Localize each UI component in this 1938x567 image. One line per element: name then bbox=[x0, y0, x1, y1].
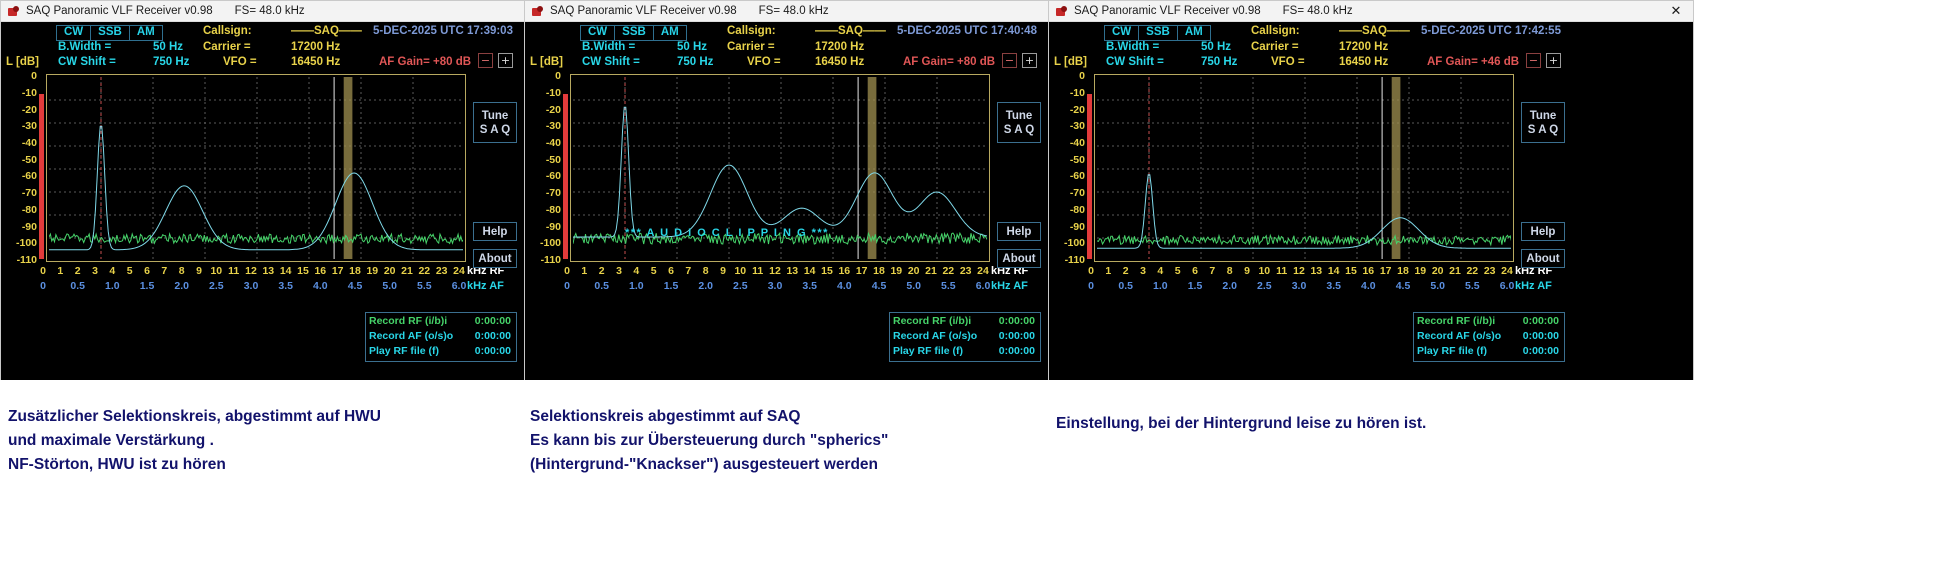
panel-caption-3: Einstellung, bei der Hintergrund leise z… bbox=[1056, 412, 1426, 436]
x-axis-rf-tick: 18 bbox=[349, 265, 361, 277]
y-axis-tick: -60 bbox=[1070, 170, 1085, 182]
x-axis-af-tick: 1.5 bbox=[664, 280, 679, 292]
x-axis-rf-tick: 4 bbox=[633, 265, 639, 277]
vfo-value[interactable]: 16450 Hz bbox=[291, 56, 340, 68]
x-axis-af-tick: 4.0 bbox=[837, 280, 852, 292]
x-axis-rf-tick: 14 bbox=[1328, 265, 1340, 277]
record-rf-row[interactable]: Record RF (i/b)i 0:00:00 bbox=[893, 315, 1037, 330]
x-axis-rf-tick: 23 bbox=[1484, 265, 1496, 277]
record-af-time: 0:00:00 bbox=[1523, 330, 1559, 342]
x-axis-rf: 0123456789101112131415161718192021222324 bbox=[565, 265, 995, 280]
x-axis-af-tick: 6.0 bbox=[452, 280, 467, 292]
cw-shift-value[interactable]: 750 Hz bbox=[677, 56, 713, 68]
x-axis-rf-tick: 2 bbox=[1123, 265, 1129, 277]
y-axis: 0-10-20-30-40-50-60-70-80-90-100-110 bbox=[525, 74, 561, 264]
x-axis-af-unit: kHz AF bbox=[991, 280, 1028, 292]
x-axis-af-tick: 3.5 bbox=[278, 280, 293, 292]
caption-line: Es kann bis zur Übersteuerung durch "sph… bbox=[530, 429, 888, 453]
x-axis-af-tick: 6.0 bbox=[1500, 280, 1515, 292]
x-axis-af-tick: 2.5 bbox=[733, 280, 748, 292]
app-icon bbox=[1055, 5, 1068, 18]
af-gain-decrease-button[interactable]: − bbox=[1526, 53, 1541, 68]
af-gain-increase-button[interactable]: + bbox=[1022, 53, 1037, 68]
x-axis-rf-tick: 6 bbox=[1192, 265, 1198, 277]
record-af-row[interactable]: Record AF (o/s)o 0:00:00 bbox=[369, 330, 513, 345]
caption-line: (Hintergrund-"Knackser") ausgesteuert we… bbox=[530, 453, 888, 477]
x-axis-rf-tick: 15 bbox=[1345, 265, 1357, 277]
mode-button-am[interactable]: AM bbox=[654, 25, 687, 41]
x-axis-rf-tick: 20 bbox=[384, 265, 396, 277]
x-axis-af-unit: kHz AF bbox=[1515, 280, 1552, 292]
x-axis-rf-tick: 2 bbox=[75, 265, 81, 277]
mode-button-ssb[interactable]: SSB bbox=[1139, 25, 1178, 41]
x-axis-rf-tick: 0 bbox=[1088, 265, 1094, 277]
play-rf-time: 0:00:00 bbox=[1523, 345, 1559, 357]
x-axis-rf-tick: 0 bbox=[564, 265, 570, 277]
x-axis-rf-tick: 17 bbox=[332, 265, 344, 277]
y-axis-tick: -90 bbox=[546, 221, 561, 233]
x-axis-af-tick: 2.0 bbox=[698, 280, 713, 292]
x-axis-rf-tick: 0 bbox=[40, 265, 46, 277]
vfo-row: VFO = 16450 Hz bbox=[1271, 56, 1305, 68]
y-axis-tick: -110 bbox=[541, 254, 561, 266]
bandwidth-value[interactable]: 50 Hz bbox=[1201, 41, 1231, 53]
y-axis-tick: -100 bbox=[540, 237, 561, 249]
x-axis-af: 00.51.01.52.02.53.03.54.04.55.05.56.0 bbox=[1089, 280, 1519, 295]
x-axis-af-tick: 0.5 bbox=[1118, 280, 1133, 292]
x-axis-af-tick: 3.5 bbox=[802, 280, 817, 292]
record-rf-row[interactable]: Record RF (i/b)i 0:00:00 bbox=[369, 315, 513, 330]
bandwidth-row: B.Width = 50 Hz bbox=[1106, 41, 1159, 53]
cw-shift-row: CW Shift = 750 Hz bbox=[582, 56, 640, 68]
record-af-row[interactable]: Record AF (o/s)o 0:00:00 bbox=[1417, 330, 1561, 345]
x-axis-rf-tick: 10 bbox=[734, 265, 746, 277]
help-button[interactable]: Help bbox=[1521, 222, 1565, 241]
x-axis-af-tick: 5.0 bbox=[906, 280, 921, 292]
play-rf-label: Play RF file (f) bbox=[369, 345, 439, 357]
cw-shift-value[interactable]: 750 Hz bbox=[1201, 56, 1237, 68]
x-axis-af-tick: 2.0 bbox=[174, 280, 189, 292]
signal-level-meter bbox=[1087, 94, 1092, 259]
x-axis-rf-tick: 3 bbox=[616, 265, 622, 277]
x-axis-af-tick: 3.0 bbox=[1292, 280, 1307, 292]
y-axis-tick: -110 bbox=[1065, 254, 1085, 266]
x-axis-rf: 0123456789101112131415161718192021222324 bbox=[1089, 265, 1519, 280]
x-axis-rf-tick: 7 bbox=[161, 265, 167, 277]
af-gain-increase-button[interactable]: + bbox=[1546, 53, 1561, 68]
af-gain-decrease-button[interactable]: − bbox=[1002, 53, 1017, 68]
mode-button-am[interactable]: AM bbox=[1178, 25, 1211, 41]
x-axis-rf-tick: 18 bbox=[873, 265, 885, 277]
app-body: CWSSBAM B.Width = 50 Hz CW Shift = 750 H… bbox=[1049, 22, 1693, 380]
mode-selector[interactable]: CWSSBAM bbox=[1104, 25, 1211, 41]
y-axis-tick: 0 bbox=[1079, 70, 1085, 82]
x-axis-rf-tick: 10 bbox=[1258, 265, 1270, 277]
x-axis-af-tick: 1.0 bbox=[105, 280, 120, 292]
record-rf-time: 0:00:00 bbox=[999, 315, 1035, 327]
play-rf-row[interactable]: Play RF file (f) 0:00:00 bbox=[369, 345, 513, 360]
y-axis: 0-10-20-30-40-50-60-70-80-90-100-110 bbox=[1049, 74, 1085, 264]
x-axis-af-tick: 2.5 bbox=[209, 280, 224, 292]
x-axis-af-tick: 5.5 bbox=[1465, 280, 1480, 292]
y-axis-tick: -30 bbox=[546, 120, 561, 132]
x-axis-af-tick: 2.5 bbox=[1257, 280, 1272, 292]
record-rf-time: 0:00:00 bbox=[475, 315, 511, 327]
x-axis-rf-tick: 1 bbox=[1105, 265, 1111, 277]
carrier-row: Carrier = 17200 Hz bbox=[727, 41, 775, 53]
x-axis-af-tick: 2.0 bbox=[1222, 280, 1237, 292]
panel-caption-2: Selektionskreis abgestimmt auf SAQEs kan… bbox=[530, 405, 888, 477]
x-axis-rf-tick: 14 bbox=[804, 265, 816, 277]
y-axis-tick: -20 bbox=[546, 104, 561, 116]
record-af-label: Record AF (o/s)o bbox=[1417, 330, 1501, 342]
x-axis-rf-tick: 1 bbox=[57, 265, 63, 277]
y-axis-tick: -30 bbox=[22, 120, 37, 132]
spectrum-plot[interactable] bbox=[1094, 74, 1514, 262]
signal-level-meter bbox=[39, 94, 44, 259]
x-axis-rf-tick: 12 bbox=[769, 265, 781, 277]
title-bar: SAQ Panoramic VLF Receiver v0.98 FS= 48.… bbox=[1049, 1, 1693, 22]
callsign-row: Callsign: ——SAQ—— bbox=[203, 25, 252, 37]
x-axis-rf-tick: 16 bbox=[838, 265, 850, 277]
x-axis-af-tick: 4.0 bbox=[313, 280, 328, 292]
spectrum-canvas: *** A U D I O C L I P P I N G *** bbox=[573, 77, 987, 259]
y-axis-tick: -50 bbox=[22, 154, 37, 166]
y-axis-tick: -20 bbox=[1070, 104, 1085, 116]
spectrum-canvas bbox=[1097, 77, 1511, 259]
sample-rate-label: FS= 48.0 kHz bbox=[759, 5, 829, 17]
x-axis-af-tick: 1.5 bbox=[140, 280, 155, 292]
x-axis-rf-tick: 24 bbox=[453, 265, 465, 277]
vfo-value[interactable]: 16450 Hz bbox=[1339, 56, 1388, 68]
y-axis-tick: -80 bbox=[546, 204, 561, 216]
bandwidth-value[interactable]: 50 Hz bbox=[677, 41, 707, 53]
x-axis-af-unit: kHz AF bbox=[467, 280, 504, 292]
carrier-value[interactable]: 17200 Hz bbox=[815, 41, 864, 53]
tune-saq-line1: Tune bbox=[1530, 109, 1557, 123]
x-axis-rf-tick: 22 bbox=[942, 265, 954, 277]
audio-clipping-warning: *** A U D I O C L I P P I N G *** bbox=[625, 227, 829, 239]
y-axis-tick: -60 bbox=[22, 170, 37, 182]
x-axis-rf-tick: 24 bbox=[1501, 265, 1513, 277]
carrier-value[interactable]: 17200 Hz bbox=[291, 41, 340, 53]
cw-shift-row: CW Shift = 750 Hz bbox=[1106, 56, 1164, 68]
y-axis-tick: -10 bbox=[1070, 87, 1085, 99]
y-axis-tick: -90 bbox=[22, 221, 37, 233]
x-axis-rf-tick: 8 bbox=[1227, 265, 1233, 277]
y-axis-tick: -80 bbox=[22, 204, 37, 216]
x-axis-rf-tick: 2 bbox=[599, 265, 605, 277]
tune-saq-line1: Tune bbox=[1006, 109, 1033, 123]
x-axis-rf-tick: 17 bbox=[1380, 265, 1392, 277]
window-title: SAQ Panoramic VLF Receiver v0.98 bbox=[550, 5, 737, 17]
x-axis-rf-tick: 24 bbox=[977, 265, 989, 277]
y-axis-tick: -100 bbox=[1064, 237, 1085, 249]
vfo-row: VFO = 16450 Hz bbox=[223, 56, 257, 68]
level-axis-label: L [dB] bbox=[6, 56, 39, 68]
x-axis-rf-tick: 5 bbox=[651, 265, 657, 277]
receiver-window-3: SAQ Panoramic VLF Receiver v0.98 FS= 48.… bbox=[1048, 0, 1694, 380]
x-axis-rf-tick: 18 bbox=[1397, 265, 1409, 277]
about-button[interactable]: About bbox=[473, 249, 517, 268]
play-rf-row[interactable]: Play RF file (f) 0:00:00 bbox=[1417, 345, 1561, 360]
caption-line: Zusätzlicher Selektionskreis, abgestimmt… bbox=[8, 405, 381, 429]
x-axis-af-tick: 3.0 bbox=[768, 280, 783, 292]
x-axis-rf-tick: 19 bbox=[1414, 265, 1426, 277]
tune-saq-line1: Tune bbox=[482, 109, 509, 123]
af-gain-display: AF Gain= +46 dB bbox=[1427, 56, 1519, 68]
x-axis-rf-tick: 19 bbox=[366, 265, 378, 277]
x-axis-af-tick: 4.5 bbox=[1396, 280, 1411, 292]
y-axis-tick: -60 bbox=[546, 170, 561, 182]
tune-saq-button[interactable]: Tune S A Q bbox=[997, 102, 1041, 143]
bandwidth-value[interactable]: 50 Hz bbox=[153, 41, 183, 53]
x-axis-af-tick: 1.0 bbox=[1153, 280, 1168, 292]
tune-saq-line2: S A Q bbox=[1528, 123, 1558, 137]
x-axis-rf-tick: 3 bbox=[1140, 265, 1146, 277]
spectrum-plot[interactable]: *** A U D I O C L I P P I N G *** bbox=[570, 74, 990, 262]
y-axis-tick: -70 bbox=[1070, 187, 1085, 199]
x-axis-rf-tick: 15 bbox=[297, 265, 309, 277]
vfo-row: VFO = 16450 Hz bbox=[747, 56, 781, 68]
x-axis-rf-tick: 9 bbox=[1244, 265, 1250, 277]
x-axis-rf-tick: 12 bbox=[1293, 265, 1305, 277]
x-axis-rf-tick: 21 bbox=[925, 265, 937, 277]
x-axis-af-tick: 4.5 bbox=[872, 280, 887, 292]
x-axis-af-tick: 6.0 bbox=[976, 280, 991, 292]
x-axis-rf-tick: 1 bbox=[581, 265, 587, 277]
level-axis-label: L [dB] bbox=[1054, 56, 1087, 68]
sample-rate-label: FS= 48.0 kHz bbox=[1283, 5, 1353, 17]
af-gain-decrease-button[interactable]: − bbox=[478, 53, 493, 68]
y-axis-tick: -70 bbox=[22, 187, 37, 199]
mode-button-am[interactable]: AM bbox=[130, 25, 163, 41]
help-button[interactable]: Help bbox=[473, 222, 517, 241]
x-axis-rf-tick: 7 bbox=[685, 265, 691, 277]
y-axis-tick: -80 bbox=[1070, 204, 1085, 216]
x-axis-af-tick: 5.0 bbox=[1430, 280, 1445, 292]
x-axis-rf-tick: 13 bbox=[262, 265, 274, 277]
caption-line: und maximale Verstärkung . bbox=[8, 429, 381, 453]
x-axis-rf-tick: 8 bbox=[703, 265, 709, 277]
x-axis-rf-tick: 11 bbox=[228, 265, 239, 277]
x-axis-af-tick: 3.0 bbox=[244, 280, 259, 292]
af-gain-display: AF Gain= +80 dB bbox=[379, 56, 471, 68]
spectrum-plot[interactable] bbox=[46, 74, 466, 262]
x-axis-rf-tick: 16 bbox=[1362, 265, 1374, 277]
x-axis-rf-tick: 7 bbox=[1209, 265, 1215, 277]
record-af-time: 0:00:00 bbox=[475, 330, 511, 342]
play-rf-label: Play RF file (f) bbox=[893, 345, 963, 357]
callsign-value: ——SAQ—— bbox=[1339, 25, 1410, 37]
window-title: SAQ Panoramic VLF Receiver v0.98 bbox=[1074, 5, 1261, 17]
record-rf-label: Record RF (i/b)i bbox=[369, 315, 447, 327]
about-button[interactable]: About bbox=[997, 249, 1041, 268]
play-rf-time: 0:00:00 bbox=[475, 345, 511, 357]
y-axis-tick: -110 bbox=[17, 254, 37, 266]
mode-button-ssb[interactable]: SSB bbox=[615, 25, 654, 41]
callsign-row: Callsign: ——SAQ—— bbox=[727, 25, 776, 37]
record-panel: Record RF (i/b)i 0:00:00 Record AF (o/s)… bbox=[1413, 312, 1565, 362]
mode-button-cw[interactable]: CW bbox=[580, 25, 615, 41]
af-gain-display: AF Gain= +80 dB bbox=[903, 56, 995, 68]
x-axis-af-tick: 0.5 bbox=[70, 280, 85, 292]
x-axis-rf-tick: 17 bbox=[856, 265, 868, 277]
x-axis-rf: 0123456789101112131415161718192021222324 bbox=[41, 265, 471, 280]
y-axis-tick: -90 bbox=[1070, 221, 1085, 233]
x-axis-rf-tick: 11 bbox=[1276, 265, 1287, 277]
tune-saq-button[interactable]: Tune S A Q bbox=[473, 102, 517, 143]
panel-caption-1: Zusätzlicher Selektionskreis, abgestimmt… bbox=[8, 405, 381, 477]
y-axis-tick: -50 bbox=[1070, 154, 1085, 166]
mode-button-cw[interactable]: CW bbox=[56, 25, 91, 41]
x-axis-rf-tick: 12 bbox=[245, 265, 257, 277]
x-axis-rf-tick: 21 bbox=[1449, 265, 1461, 277]
x-axis-rf-tick: 21 bbox=[401, 265, 413, 277]
record-af-label: Record AF (o/s)o bbox=[893, 330, 977, 342]
x-axis-rf-tick: 5 bbox=[1175, 265, 1181, 277]
x-axis-af-tick: 0 bbox=[564, 280, 570, 292]
x-axis-af-tick: 4.5 bbox=[348, 280, 363, 292]
sample-rate-label: FS= 48.0 kHz bbox=[235, 5, 305, 17]
record-af-row[interactable]: Record AF (o/s)o 0:00:00 bbox=[893, 330, 1037, 345]
af-gain-increase-button[interactable]: + bbox=[498, 53, 513, 68]
x-axis-rf-tick: 23 bbox=[960, 265, 972, 277]
record-panel: Record RF (i/b)i 0:00:00 Record AF (o/s)… bbox=[889, 312, 1041, 362]
record-rf-label: Record RF (i/b)i bbox=[1417, 315, 1495, 327]
carrier-row: Carrier = 17200 Hz bbox=[203, 41, 251, 53]
y-axis: 0-10-20-30-40-50-60-70-80-90-100-110 bbox=[1, 74, 37, 264]
bandwidth-row: B.Width = 50 Hz bbox=[582, 41, 635, 53]
about-button[interactable]: About bbox=[1521, 249, 1565, 268]
x-axis-rf-tick: 10 bbox=[210, 265, 222, 277]
app-icon bbox=[7, 5, 20, 18]
y-axis-tick: -30 bbox=[1070, 120, 1085, 132]
y-axis-tick: -100 bbox=[16, 237, 37, 249]
mode-button-cw[interactable]: CW bbox=[1104, 25, 1139, 41]
y-axis-tick: -40 bbox=[1070, 137, 1085, 149]
callsign-value: ——SAQ—— bbox=[291, 25, 362, 37]
vfo-value[interactable]: 16450 Hz bbox=[815, 56, 864, 68]
x-axis-rf-tick: 6 bbox=[144, 265, 150, 277]
x-axis-rf-tick: 4 bbox=[109, 265, 115, 277]
x-axis-rf-tick: 5 bbox=[127, 265, 133, 277]
record-af-time: 0:00:00 bbox=[999, 330, 1035, 342]
caption-line: Einstellung, bei der Hintergrund leise z… bbox=[1056, 412, 1426, 436]
help-button[interactable]: Help bbox=[997, 222, 1041, 241]
x-axis-rf-tick: 15 bbox=[821, 265, 833, 277]
play-rf-time: 0:00:00 bbox=[999, 345, 1035, 357]
bandwidth-row: B.Width = 50 Hz bbox=[58, 41, 111, 53]
datetime-display: 5-DEC-2025 UTC 17:42:55 bbox=[1421, 25, 1561, 37]
record-rf-time: 0:00:00 bbox=[1523, 315, 1559, 327]
x-axis-rf-tick: 23 bbox=[436, 265, 448, 277]
y-axis-tick: -40 bbox=[22, 137, 37, 149]
callsign-value: ——SAQ—— bbox=[815, 25, 886, 37]
mode-selector[interactable]: CWSSBAM bbox=[56, 25, 163, 41]
datetime-display: 5-DEC-2025 UTC 17:39:03 bbox=[373, 25, 513, 37]
x-axis-af-tick: 5.5 bbox=[941, 280, 956, 292]
x-axis-af-tick: 3.5 bbox=[1326, 280, 1341, 292]
x-axis-rf-tick: 14 bbox=[280, 265, 292, 277]
y-axis-tick: 0 bbox=[31, 70, 37, 82]
x-axis-rf-tick: 8 bbox=[179, 265, 185, 277]
record-rf-label: Record RF (i/b)i bbox=[893, 315, 971, 327]
y-axis-tick: -20 bbox=[22, 104, 37, 116]
y-axis-tick: -70 bbox=[546, 187, 561, 199]
x-axis-rf-tick: 13 bbox=[1310, 265, 1322, 277]
tune-saq-line2: S A Q bbox=[480, 123, 510, 137]
cw-shift-row: CW Shift = 750 Hz bbox=[58, 56, 116, 68]
window-title: SAQ Panoramic VLF Receiver v0.98 bbox=[26, 5, 213, 17]
spectrum-canvas bbox=[49, 77, 463, 259]
tune-saq-button[interactable]: Tune S A Q bbox=[1521, 102, 1565, 143]
caption-line: Selektionskreis abgestimmt auf SAQ bbox=[530, 405, 888, 429]
y-axis-tick: -10 bbox=[546, 87, 561, 99]
record-rf-row[interactable]: Record RF (i/b)i 0:00:00 bbox=[1417, 315, 1561, 330]
x-axis-af: 00.51.01.52.02.53.03.54.04.55.05.56.0 bbox=[41, 280, 471, 295]
x-axis-rf-tick: 20 bbox=[1432, 265, 1444, 277]
x-axis-af-tick: 1.5 bbox=[1188, 280, 1203, 292]
x-axis-rf-tick: 16 bbox=[314, 265, 326, 277]
app-icon bbox=[531, 5, 544, 18]
x-axis-af: 00.51.01.52.02.53.03.54.04.55.05.56.0 bbox=[565, 280, 995, 295]
x-axis-rf-tick: 13 bbox=[786, 265, 798, 277]
close-icon[interactable]: ✕ bbox=[1659, 1, 1693, 21]
mode-selector[interactable]: CWSSBAM bbox=[580, 25, 687, 41]
carrier-row: Carrier = 17200 Hz bbox=[1251, 41, 1299, 53]
y-axis-tick: -40 bbox=[546, 137, 561, 149]
x-axis-af-tick: 5.5 bbox=[417, 280, 432, 292]
y-axis-tick: 0 bbox=[555, 70, 561, 82]
x-axis-rf-tick: 22 bbox=[1466, 265, 1478, 277]
x-axis-af-tick: 5.0 bbox=[382, 280, 397, 292]
signal-level-meter bbox=[563, 94, 568, 259]
x-axis-af-tick: 0 bbox=[40, 280, 46, 292]
x-axis-rf-tick: 20 bbox=[908, 265, 920, 277]
x-axis-rf-tick: 3 bbox=[92, 265, 98, 277]
x-axis-rf-tick: 11 bbox=[752, 265, 763, 277]
x-axis-af-tick: 0 bbox=[1088, 280, 1094, 292]
datetime-display: 5-DEC-2025 UTC 17:40:48 bbox=[897, 25, 1037, 37]
caption-line: NF-Störton, HWU ist zu hören bbox=[8, 453, 381, 477]
x-axis-rf-tick: 9 bbox=[196, 265, 202, 277]
x-axis-rf-tick: 9 bbox=[720, 265, 726, 277]
x-axis-rf-tick: 4 bbox=[1157, 265, 1163, 277]
y-axis-tick: -10 bbox=[22, 87, 37, 99]
cw-shift-value[interactable]: 750 Hz bbox=[153, 56, 189, 68]
x-axis-rf-tick: 22 bbox=[418, 265, 430, 277]
play-rf-row[interactable]: Play RF file (f) 0:00:00 bbox=[893, 345, 1037, 360]
callsign-row: Callsign: ——SAQ—— bbox=[1251, 25, 1300, 37]
play-rf-label: Play RF file (f) bbox=[1417, 345, 1487, 357]
tune-saq-line2: S A Q bbox=[1004, 123, 1034, 137]
x-axis-rf-tick: 19 bbox=[890, 265, 902, 277]
x-axis-rf-tick: 6 bbox=[668, 265, 674, 277]
level-axis-label: L [dB] bbox=[530, 56, 563, 68]
mode-button-ssb[interactable]: SSB bbox=[91, 25, 130, 41]
record-panel: Record RF (i/b)i 0:00:00 Record AF (o/s)… bbox=[365, 312, 517, 362]
x-axis-af-tick: 1.0 bbox=[629, 280, 644, 292]
x-axis-af-tick: 4.0 bbox=[1361, 280, 1376, 292]
carrier-value[interactable]: 17200 Hz bbox=[1339, 41, 1388, 53]
x-axis-af-tick: 0.5 bbox=[594, 280, 609, 292]
record-af-label: Record AF (o/s)o bbox=[369, 330, 453, 342]
y-axis-tick: -50 bbox=[546, 154, 561, 166]
